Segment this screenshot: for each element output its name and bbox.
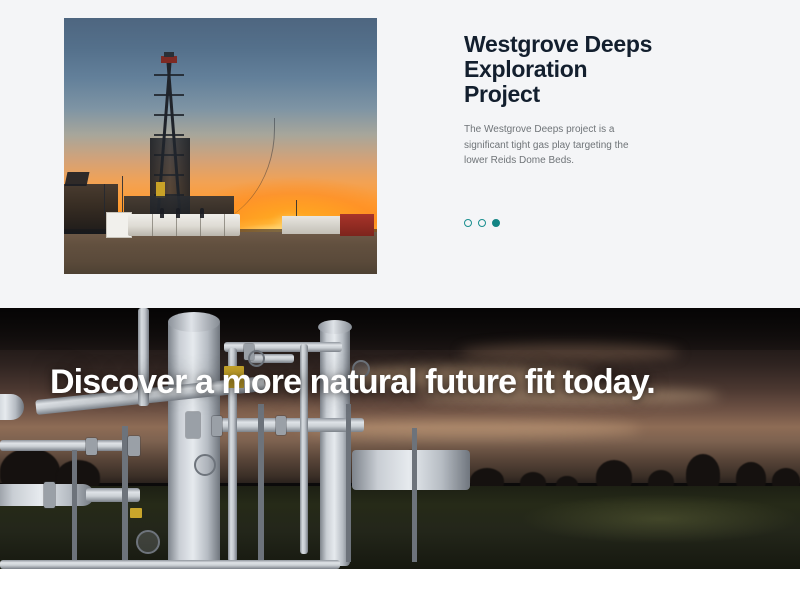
support-post	[72, 450, 77, 566]
tank-seam	[152, 214, 153, 236]
light-pole	[104, 184, 105, 216]
footer-strip	[0, 569, 800, 599]
light-pole	[122, 176, 123, 216]
derrick-crossbrace	[154, 134, 184, 136]
pipe-flange	[212, 416, 222, 436]
pipe-flange	[86, 438, 97, 455]
process-pipe	[224, 342, 342, 352]
carousel-dot-3-active[interactable]	[492, 219, 500, 227]
carousel-dot-2[interactable]	[478, 219, 486, 227]
horizontal-drum	[0, 394, 24, 420]
feature-title: Westgrove Deeps Exploration Project	[464, 32, 660, 107]
derrick-crossbrace	[154, 94, 184, 96]
worker-silhouette	[200, 208, 204, 218]
red-equipment-unit	[340, 214, 374, 236]
valve-handwheel	[194, 454, 216, 476]
vessel-top-cap	[318, 320, 352, 334]
cloud	[460, 344, 680, 362]
support-post	[258, 404, 264, 564]
derrick-crown-block	[161, 56, 177, 63]
feature-description: The Westgrove Deeps project is a signifi…	[464, 122, 654, 169]
tank-seam	[224, 214, 225, 236]
derrick-top-cap	[164, 52, 174, 57]
skid-base-rail	[0, 560, 340, 569]
feature-text-block: Westgrove Deeps Exploration Project The …	[464, 32, 660, 169]
carousel-pagination[interactable]	[464, 219, 500, 227]
grass-highlight	[520, 494, 800, 544]
hero-heading: Discover a more natural future fit today…	[50, 362, 655, 402]
process-pipe	[86, 488, 140, 502]
page-root: Westgrove Deeps Exploration Project The …	[0, 0, 800, 599]
support-post	[346, 404, 351, 562]
valve-handwheel	[136, 530, 160, 554]
yellow-equipment	[130, 508, 142, 518]
feature-carousel-section: Westgrove Deeps Exploration Project The …	[0, 0, 800, 308]
carousel-dot-1[interactable]	[464, 219, 472, 227]
site-ground	[64, 232, 377, 274]
pipe-flange	[276, 416, 286, 435]
pipe-flange	[44, 482, 55, 508]
process-plant-equipment	[0, 308, 470, 569]
derrick-crossbrace	[154, 74, 184, 76]
worker-silhouette	[160, 208, 164, 218]
feature-slide-image[interactable]	[64, 18, 377, 274]
vessel-top-cap	[168, 312, 220, 332]
worker-silhouette	[176, 208, 180, 218]
hero-banner	[0, 308, 800, 569]
support-post	[412, 428, 417, 562]
separator-vessel	[168, 320, 220, 568]
pipe-flange	[186, 412, 200, 438]
derrick-crossbrace	[154, 114, 184, 116]
storage-tanks	[128, 214, 240, 236]
process-pipe	[0, 440, 130, 451]
drilling-rig-at-sunset-photo	[64, 18, 377, 274]
pipe-flange	[128, 436, 140, 456]
heat-exchanger	[352, 450, 470, 490]
